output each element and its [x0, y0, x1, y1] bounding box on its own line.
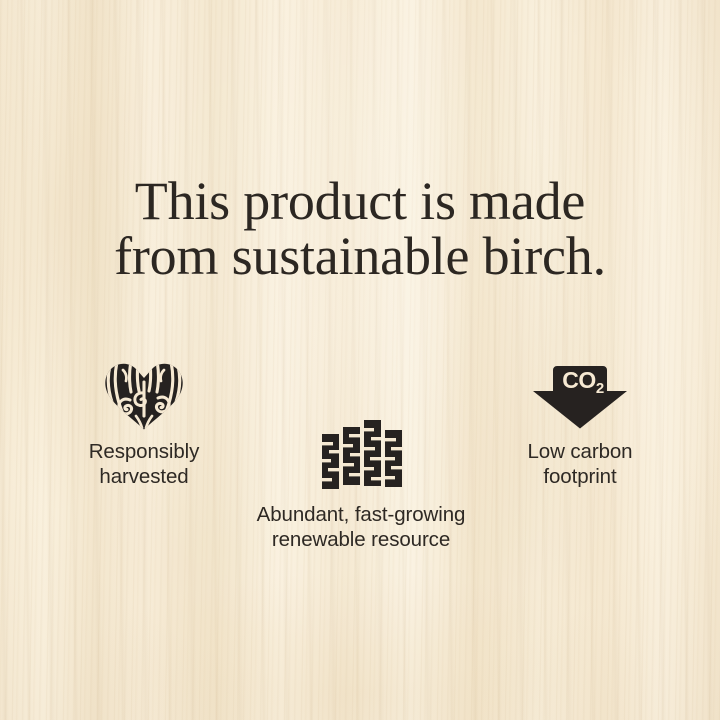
headline: This product is made from sustainable bi… — [0, 174, 720, 284]
badge-icon-wrapper — [255, 418, 467, 491]
badge-icon-wrapper — [38, 360, 250, 430]
badge-responsibly-harvested: Responsibly harvested — [38, 360, 250, 489]
co2-subscript: 2 — [596, 380, 604, 397]
panel-content: This product is made from sustainable bi… — [0, 0, 720, 720]
birch-wood-panel: This product is made from sustainable bi… — [0, 0, 720, 720]
badge-icon-wrapper: CO 2 — [474, 360, 686, 430]
badge-caption-low-carbon-footprint: Low carbon footprint — [474, 439, 686, 489]
badge-caption-renewable-resource: Abundant, fast-growing renewable resourc… — [255, 502, 467, 552]
badge-renewable-resource: Abundant, fast-growing renewable resourc… — [255, 418, 467, 552]
birch-trunks-icon — [316, 418, 406, 491]
badge-caption-responsibly-harvested: Responsibly harvested — [38, 439, 250, 489]
badge-low-carbon-footprint: CO 2 Low carbon footprint — [474, 360, 686, 489]
co2-down-arrow-icon: CO 2 — [531, 364, 629, 430]
co2-label: CO — [562, 367, 596, 393]
wood-grain-heart-icon — [103, 360, 185, 430]
